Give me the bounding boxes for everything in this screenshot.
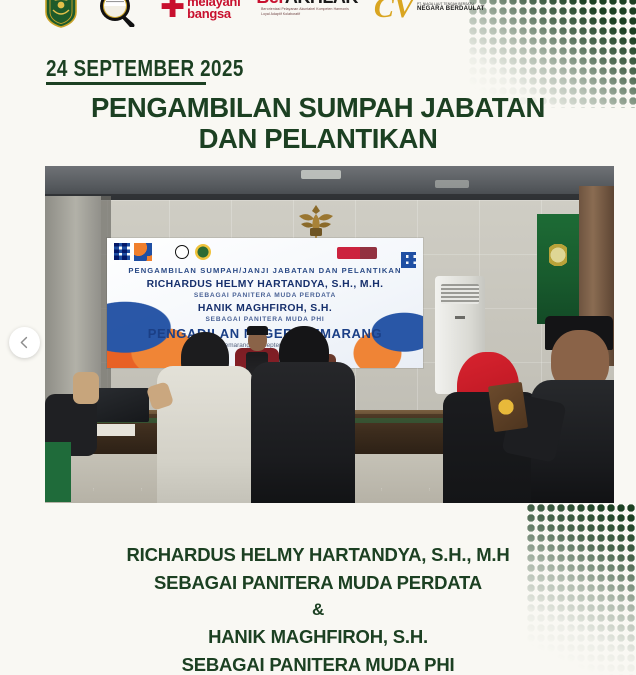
banner-line-4: HANIK MAGHFIROH, S.H.: [107, 303, 423, 314]
headline-line-2: DAN PELANTIKAN: [199, 123, 438, 154]
appointee-position-2: SEBAGAI PANITERA MUDA PHI: [0, 651, 636, 675]
appointee-position-1: SEBAGAI PANITERA MUDA PERDATA: [0, 569, 636, 597]
ceremony-photo[interactable]: PENGAMBILAN SUMPAH/JANJI JABATAN DAN PEL…: [45, 166, 614, 503]
negara-berdaulat-label: NEGARA BERDAULAT: [417, 6, 485, 14]
banner-icon-grid: [114, 243, 130, 260]
ombudsman-logo: [94, 0, 144, 28]
berakhlak-subtitle: Berorientasi Pelayanan Akuntabel Kompete…: [261, 7, 353, 17]
berakhlak-suffix: AKHLAK: [285, 0, 358, 7]
chevron-left-icon: [18, 336, 31, 349]
photo-nameplate-1: [91, 424, 135, 436]
date-underline: [46, 82, 206, 85]
berakhlak-prefix: Ber: [256, 0, 285, 7]
photo-green-flag: [537, 214, 579, 324]
photo-flag-emblem: [549, 244, 567, 266]
photo-foreground-left-fabric: [45, 442, 71, 502]
banner-line-5: SEBAGAI PANITERA MUDA PHI: [107, 316, 423, 323]
banner-icon-berakhlak: [337, 247, 377, 259]
photo-ceiling-light-2: [435, 180, 469, 188]
headline-line-1: PENGAMBILAN SUMPAH JABATAN: [91, 92, 545, 123]
page-title: PENGAMBILAN SUMPAH JABATAN DAN PELANTIKA…: [0, 92, 636, 154]
photo-person-white-shirt: [157, 366, 253, 503]
event-date: 24 SEPTEMBER 2025: [46, 55, 244, 82]
photo-person-dark-suit: [251, 362, 355, 503]
appointee-name-1: RICHARDUS HELMY HARTANDYA, S.H., M.H: [0, 541, 636, 569]
photo-ceiling-light: [301, 170, 341, 179]
photo-ac-vent: [441, 284, 479, 304]
banner-line-1: PENGAMBILAN SUMPAH/JANJI JABATAN DAN PEL…: [107, 266, 423, 275]
logo-strip: ✚ melayani bangsa BerAKHLAK Berorientasi…: [44, 0, 484, 30]
mahkamah-agung-logo: [44, 0, 78, 28]
photo-raised-hand: [73, 372, 99, 404]
bangsa-label: bangsa: [187, 8, 240, 20]
banner-icon-pinwheel: [134, 243, 152, 261]
banner-line-2: RICHARDUS HELMY HARTANDYA, S.H., M.H.: [107, 279, 423, 290]
appointee-names: RICHARDUS HELMY HARTANDYA, S.H., M.H SEB…: [0, 541, 636, 675]
photo-judge-cap: [247, 326, 268, 335]
cv-monogram-icon: CV: [374, 0, 414, 20]
names-ampersand: &: [0, 597, 636, 623]
photo-holy-book-seal: [496, 397, 516, 417]
carousel-prev-button[interactable]: [9, 327, 40, 358]
negara-berdaulat-logo: CV PT. NIAGA LAUT TENGAH BERSATU NEGARA …: [374, 0, 485, 28]
banner-line-3: SEBAGAI PANITERA MUDA PERDATA: [107, 292, 423, 299]
photo-ac-display: [455, 316, 465, 319]
banner-icon-shield: [195, 244, 211, 260]
shield-icon: [44, 0, 78, 28]
cross-icon: ✚: [160, 0, 185, 20]
banner-icon-ombudsman: [175, 245, 189, 259]
appointee-name-2: HANIK MAGHFIROH, S.H.: [0, 623, 636, 651]
ombudsman-icon: [94, 0, 144, 27]
berakhlak-logo: BerAKHLAK Berorientasi Pelayanan Akuntab…: [256, 0, 358, 28]
melayani-bangsa-logo: ✚ melayani bangsa: [160, 0, 240, 28]
